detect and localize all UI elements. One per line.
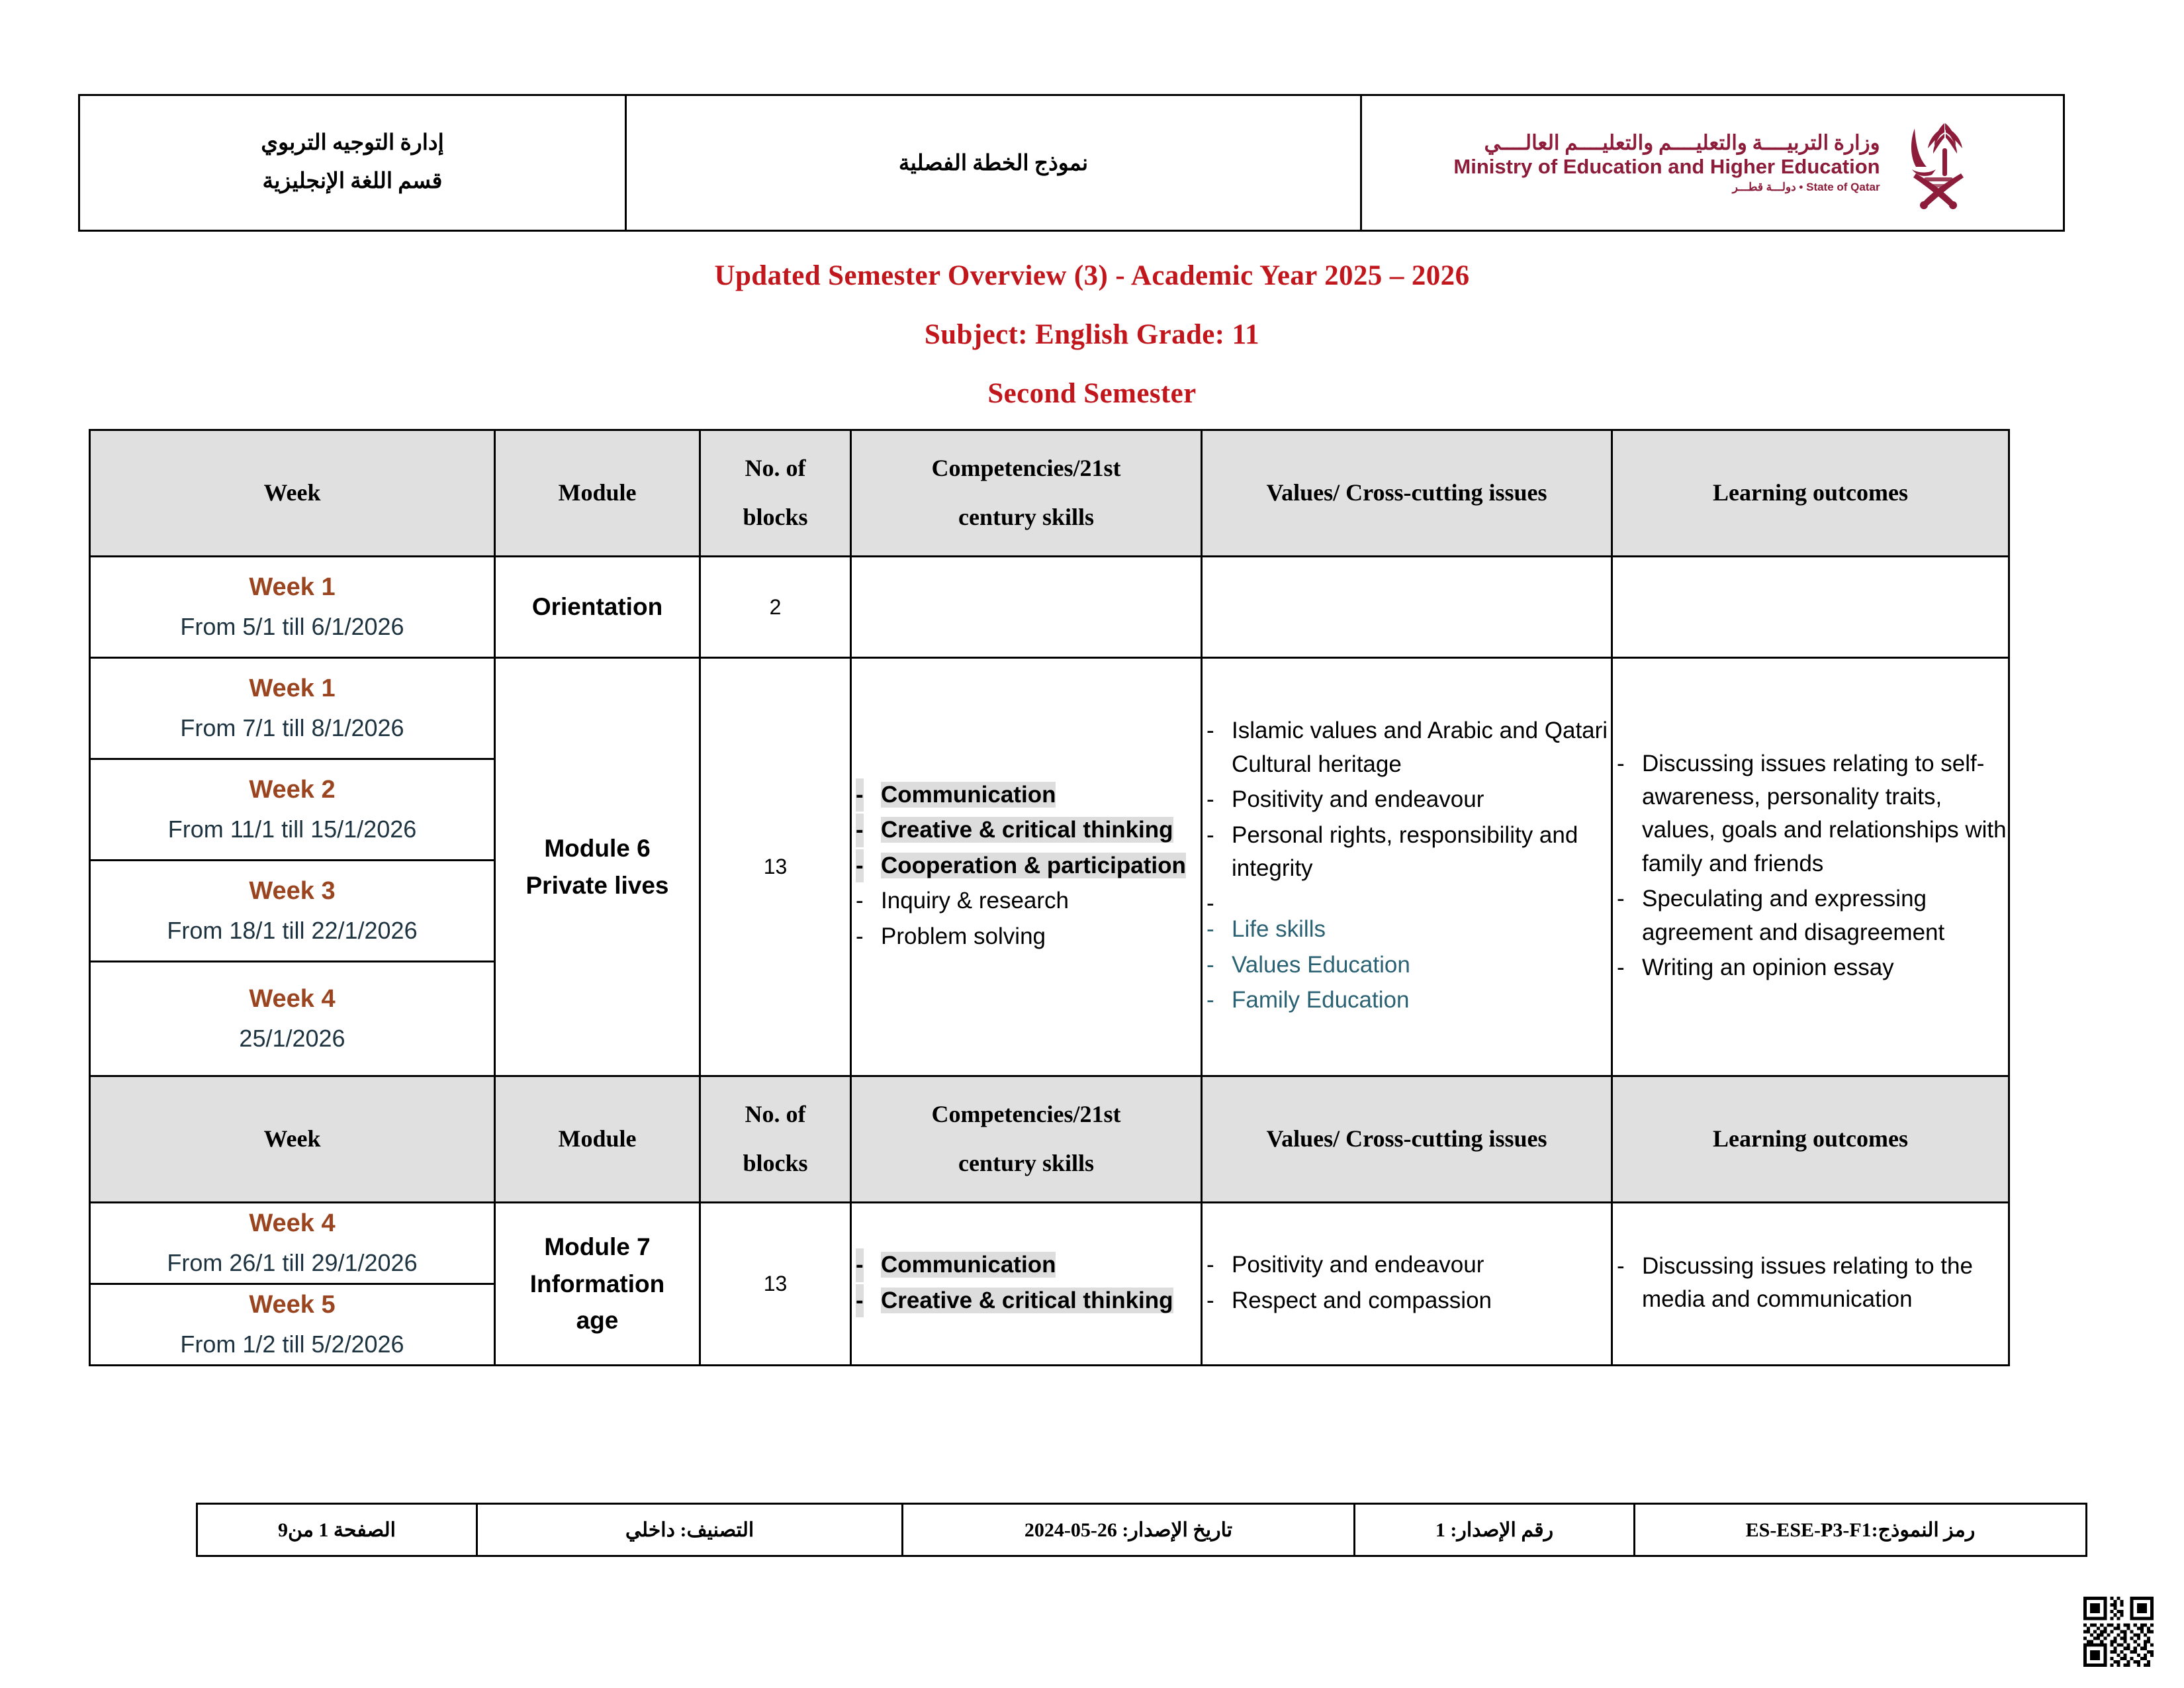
list-spacer <box>1203 887 1611 911</box>
footer-page-number: الصفحة 1 من9 <box>197 1504 477 1556</box>
competencies-cell: Communication Creative & critical thinki… <box>851 658 1202 1076</box>
semester-overview-title: Updated Semester Overview (3) - Academic… <box>0 259 2184 292</box>
list-item: Positivity and endeavour <box>1203 783 1611 816</box>
competencies-list: Communication Creative & critical thinki… <box>852 1248 1201 1317</box>
page-title-block: Updated Semester Overview (3) - Academic… <box>0 259 2184 410</box>
column-header-module: Module <box>495 430 700 557</box>
list-item: Cooperation & participation <box>852 849 1201 882</box>
ministry-name-english: Ministry of Education and Higher Educati… <box>1453 156 1880 177</box>
footer-row: رمز النموذج:ES-ESE-P3-F1 رقم الإصدار: 1 … <box>197 1504 2087 1556</box>
week-cell: Week 5 From 1/2 till 5/2/2026 <box>90 1284 495 1366</box>
list-item: Respect and compassion <box>1203 1284 1611 1317</box>
week-cell: Week 1 From 7/1 till 8/1/2026 <box>90 658 495 759</box>
list-item: Creative & critical thinking <box>852 1284 1201 1317</box>
column-header-values: Values/ Cross-cutting issues <box>1202 430 1612 557</box>
list-item: Writing an opinion essay <box>1613 951 2008 984</box>
module-cell: Module 7 Information age <box>495 1203 700 1366</box>
competencies-cell: Communication Creative & critical thinki… <box>851 1203 1202 1366</box>
department-line-1: إدارة التوجيه التربوي <box>89 124 615 163</box>
week-cell: Week 3 From 18/1 till 22/1/2026 <box>90 861 495 962</box>
module-cell: Orientation <box>495 557 700 658</box>
values-list: Positivity and endeavour Respect and com… <box>1203 1248 1611 1317</box>
column-header-outcomes: Learning outcomes <box>1612 430 2009 557</box>
list-item: Speculating and expressing agreement and… <box>1613 882 2008 949</box>
state-of-qatar-label: دولـــة قطـــر • State of Qatar <box>1453 181 1880 193</box>
column-header-week: Week <box>90 1076 495 1203</box>
department-cell: إدارة التوجيه التربوي قسم اللغة الإنجليز… <box>79 95 626 231</box>
table-row: Week 1 From 5/1 till 6/1/2026 Orientatio… <box>90 557 2009 658</box>
ministry-name-arabic: وزارة التربيــــة والتعليــــم والتعليــ… <box>1453 132 1880 154</box>
column-header-blocks: No. of blocks <box>700 1076 851 1203</box>
ministry-logo-text: وزارة التربيــــة والتعليــــم والتعليــ… <box>1453 132 1880 193</box>
values-list: Islamic values and Arabic and Qatari Cul… <box>1203 714 1611 1017</box>
outcomes-list: Discussing issues relating to self-aware… <box>1613 747 2008 985</box>
column-header-module: Module <box>495 1076 700 1203</box>
qr-code-icon <box>2083 1597 2154 1667</box>
table-header-row: Week Module No. of blocks Competencies/2… <box>90 430 2009 557</box>
column-header-competencies: Competencies/21st century skills <box>851 430 1202 557</box>
form-title-text: نموذج الخطة الفصلية <box>636 150 1351 176</box>
footer-form-code: رمز النموذج:ES-ESE-P3-F1 <box>1635 1504 2087 1556</box>
ministry-logo: وزارة التربيــــة والتعليــــم والتعليــ… <box>1371 113 2054 212</box>
competencies-cell <box>851 557 1202 658</box>
list-item: Values Education <box>1203 949 1611 982</box>
outcomes-cell <box>1612 557 2009 658</box>
ministry-logo-cell: وزارة التربيــــة والتعليــــم والتعليــ… <box>1361 95 2064 231</box>
blocks-cell: 13 <box>700 658 851 1076</box>
table-row: Week 1 From 7/1 till 8/1/2026 Module 6 P… <box>90 658 2009 759</box>
values-cell: Islamic values and Arabic and Qatari Cul… <box>1202 658 1612 1076</box>
table-header-row-repeat: Week Module No. of blocks Competencies/2… <box>90 1076 2009 1203</box>
column-header-week: Week <box>90 430 495 557</box>
week-cell: Week 4 25/1/2026 <box>90 962 495 1076</box>
list-item: Creative & critical thinking <box>852 814 1201 847</box>
list-item: Discussing issues relating to self-aware… <box>1613 747 2008 881</box>
list-item: Communication <box>852 778 1201 812</box>
footer-issue-date: تاريخ الإصدار: 26-05-2024 <box>903 1504 1355 1556</box>
document-footer-table: رمز النموذج:ES-ESE-P3-F1 رقم الإصدار: 1 … <box>196 1503 2087 1557</box>
week-cell: Week 2 From 11/1 till 15/1/2026 <box>90 759 495 861</box>
list-item: Discussing issues relating to the media … <box>1613 1250 2008 1317</box>
header-row: إدارة التوجيه التربوي قسم اللغة الإنجليز… <box>79 95 2064 231</box>
week-cell: Week 1 From 5/1 till 6/1/2026 <box>90 557 495 658</box>
values-cell <box>1202 557 1612 658</box>
column-header-competencies: Competencies/21st century skills <box>851 1076 1202 1203</box>
semester-line: Second Semester <box>0 377 2184 410</box>
column-header-outcomes: Learning outcomes <box>1612 1076 2009 1203</box>
document-page: إدارة التوجيه التربوي قسم اللغة الإنجليز… <box>0 0 2184 1688</box>
list-item: Communication <box>852 1248 1201 1282</box>
list-item: Inquiry & research <box>852 884 1201 917</box>
module-cell: Module 6 Private lives <box>495 658 700 1076</box>
competencies-list: Communication Creative & critical thinki… <box>852 778 1201 953</box>
list-item: Problem solving <box>852 920 1201 953</box>
list-item: Family Education <box>1203 984 1611 1017</box>
document-header-table: إدارة التوجيه التربوي قسم اللغة الإنجليز… <box>78 94 2065 232</box>
table-row: Week 4 From 26/1 till 29/1/2026 Module 7… <box>90 1203 2009 1284</box>
blocks-cell: 13 <box>700 1203 851 1366</box>
list-item: Personal rights, responsibility and inte… <box>1203 819 1611 886</box>
outcomes-cell: Discussing issues relating to self-aware… <box>1612 658 2009 1076</box>
semester-plan-table: Week Module No. of blocks Competencies/2… <box>89 429 2010 1366</box>
list-item: Islamic values and Arabic and Qatari Cul… <box>1203 714 1611 781</box>
week-cell: Week 4 From 26/1 till 29/1/2026 <box>90 1203 495 1284</box>
list-item: Life skills <box>1203 913 1611 946</box>
form-title-cell: نموذج الخطة الفصلية <box>626 95 1361 231</box>
values-cell: Positivity and endeavour Respect and com… <box>1202 1203 1612 1366</box>
footer-version-number: رقم الإصدار: 1 <box>1355 1504 1635 1556</box>
list-item: Positivity and endeavour <box>1203 1248 1611 1282</box>
department-line-2: قسم اللغة الإنجليزية <box>89 163 615 201</box>
subject-grade-line: Subject: English Grade: 11 <box>0 318 2184 351</box>
outcomes-cell: Discussing issues relating to the media … <box>1612 1203 2009 1366</box>
column-header-values: Values/ Cross-cutting issues <box>1202 1076 1612 1203</box>
qatar-emblem-icon <box>1892 117 1972 209</box>
footer-classification: التصنيف: داخلي <box>477 1504 903 1556</box>
column-header-blocks: No. of blocks <box>700 430 851 557</box>
blocks-cell: 2 <box>700 557 851 658</box>
outcomes-list: Discussing issues relating to the media … <box>1613 1250 2008 1317</box>
